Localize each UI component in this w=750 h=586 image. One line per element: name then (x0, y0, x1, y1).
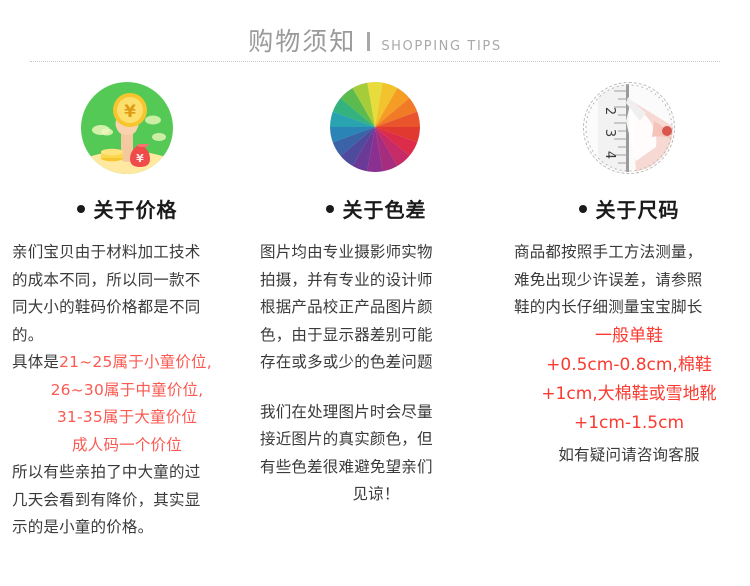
bullet-icon (579, 205, 587, 213)
header-separator (367, 32, 370, 51)
size-line-7: +1cm-1.5cm (514, 409, 744, 438)
color-line-9: 见谅！ (260, 481, 492, 509)
tip-body-size: 商品都按照手工方法测量， 难免出现少许误差，请参照 鞋的内长仔细测量宝宝脚长 一… (514, 239, 744, 469)
price-line-3: 同大小的鞋码价格都是不同 (12, 294, 242, 322)
price-line-5: 具体是21~25属于小童价位, (12, 349, 242, 377)
money-hand-coin-svg: ¥ ¥ (81, 82, 173, 174)
page-title-en: SHOPPING TIPS (381, 39, 501, 54)
color-line-2: 拍摄，并有专业的设计师 (260, 267, 492, 295)
price-line-9: 所以有些亲拍了中大童的过 (12, 459, 242, 487)
ruler-measure-icon: 2 3 4 (583, 82, 675, 174)
tip-title-size-label: 关于尺码 (596, 194, 680, 223)
tip-column-size: 2 3 4 (500, 82, 750, 542)
color-wheel-svg (330, 82, 420, 172)
tip-body-color: 图片均由专业摄影师实物 拍摄，并有专业的设计师 根据产品校正产品图片颜 色，由于… (260, 239, 492, 509)
size-line-8: 如有疑问请咨询客服 (514, 442, 744, 470)
price-icon-wrap: ¥ ¥ (81, 82, 173, 174)
size-line-4: 一般单鞋 (514, 322, 744, 351)
tip-title-price: 关于价格 (77, 194, 178, 223)
money-hand-coin-icon: ¥ ¥ (81, 82, 173, 174)
svg-text:2: 2 (602, 107, 617, 115)
svg-text:¥: ¥ (124, 102, 136, 122)
color-icon-wrap (330, 82, 422, 174)
bullet-icon (326, 205, 334, 213)
price-line-11: 示的是小童的价格。 (12, 514, 242, 542)
price-line-4: 的。 (12, 322, 242, 350)
price-line-10: 几天会看到有降价，其实显 (12, 487, 242, 515)
color-line-4: 色，由于显示器差别可能 (260, 322, 492, 350)
size-line-2: 难免出现少许误差，请参照 (514, 267, 744, 295)
tip-body-price: 亲们宝贝由于材料加工技术 的成本不同，所以同一款不 同大小的鞋码价格都是不同 的… (12, 239, 242, 542)
tips-columns: ¥ ¥ 关于价格 亲们宝贝由于材料加工技术 (0, 82, 750, 542)
header-title-group: 购物须知 SHOPPING TIPS (248, 22, 501, 58)
size-line-3: 鞋的内长仔细测量宝宝脚长 (514, 294, 744, 322)
tip-title-color: 关于色差 (326, 194, 427, 223)
size-line-6: +1cm,大棉鞋或雪地靴 (514, 380, 744, 409)
price-line-5-red: 21~25属于小童价位, (59, 353, 212, 371)
color-line-5: 存在或多或少的色差问题 (260, 349, 492, 377)
size-line-1: 商品都按照手工方法测量， (514, 239, 744, 267)
ruler-measure-svg: 2 3 4 (584, 83, 674, 173)
price-line-1: 亲们宝贝由于材料加工技术 (12, 239, 242, 267)
tip-title-size: 关于尺码 (579, 194, 680, 223)
header-divider (30, 61, 720, 63)
color-line-8: 有些色差很难避免望亲们 (260, 454, 492, 482)
price-line-5-prefix: 具体是 (12, 353, 59, 371)
svg-text:4: 4 (602, 151, 617, 159)
color-body-spacer (260, 377, 492, 399)
size-icon-wrap: 2 3 4 (583, 82, 675, 174)
price-line-8: 成人码一个价位 (12, 432, 242, 460)
color-line-7: 接近图片的真实颜色，但 (260, 426, 492, 454)
price-line-7: 31-35属于大童价位 (12, 404, 242, 432)
page-header: 购物须知 SHOPPING TIPS (0, 0, 750, 58)
color-line-3: 根据产品校正产品图片颜 (260, 294, 492, 322)
price-line-6: 26~30属于中童价位, (12, 377, 242, 405)
bullet-icon (77, 205, 85, 213)
tip-column-price: ¥ ¥ 关于价格 亲们宝贝由于材料加工技术 (0, 82, 250, 542)
color-line-6: 我们在处理图片时会尽量 (260, 399, 492, 427)
shopping-tips-page: 购物须知 SHOPPING TIPS (0, 0, 750, 586)
tip-title-color-label: 关于色差 (343, 194, 427, 223)
tip-column-color: 关于色差 图片均由专业摄影师实物 拍摄，并有专业的设计师 根据产品校正产品图片颜… (250, 82, 500, 542)
price-line-2: 的成本不同，所以同一款不 (12, 267, 242, 295)
svg-text:3: 3 (602, 129, 617, 137)
tip-title-price-label: 关于价格 (94, 194, 178, 223)
color-wheel-icon (330, 82, 420, 172)
page-title-cn: 购物须知 (248, 22, 356, 58)
size-line-5: +0.5cm-0.8cm,棉鞋 (514, 351, 744, 380)
color-line-1: 图片均由专业摄影师实物 (260, 239, 492, 267)
svg-text:¥: ¥ (136, 152, 144, 165)
